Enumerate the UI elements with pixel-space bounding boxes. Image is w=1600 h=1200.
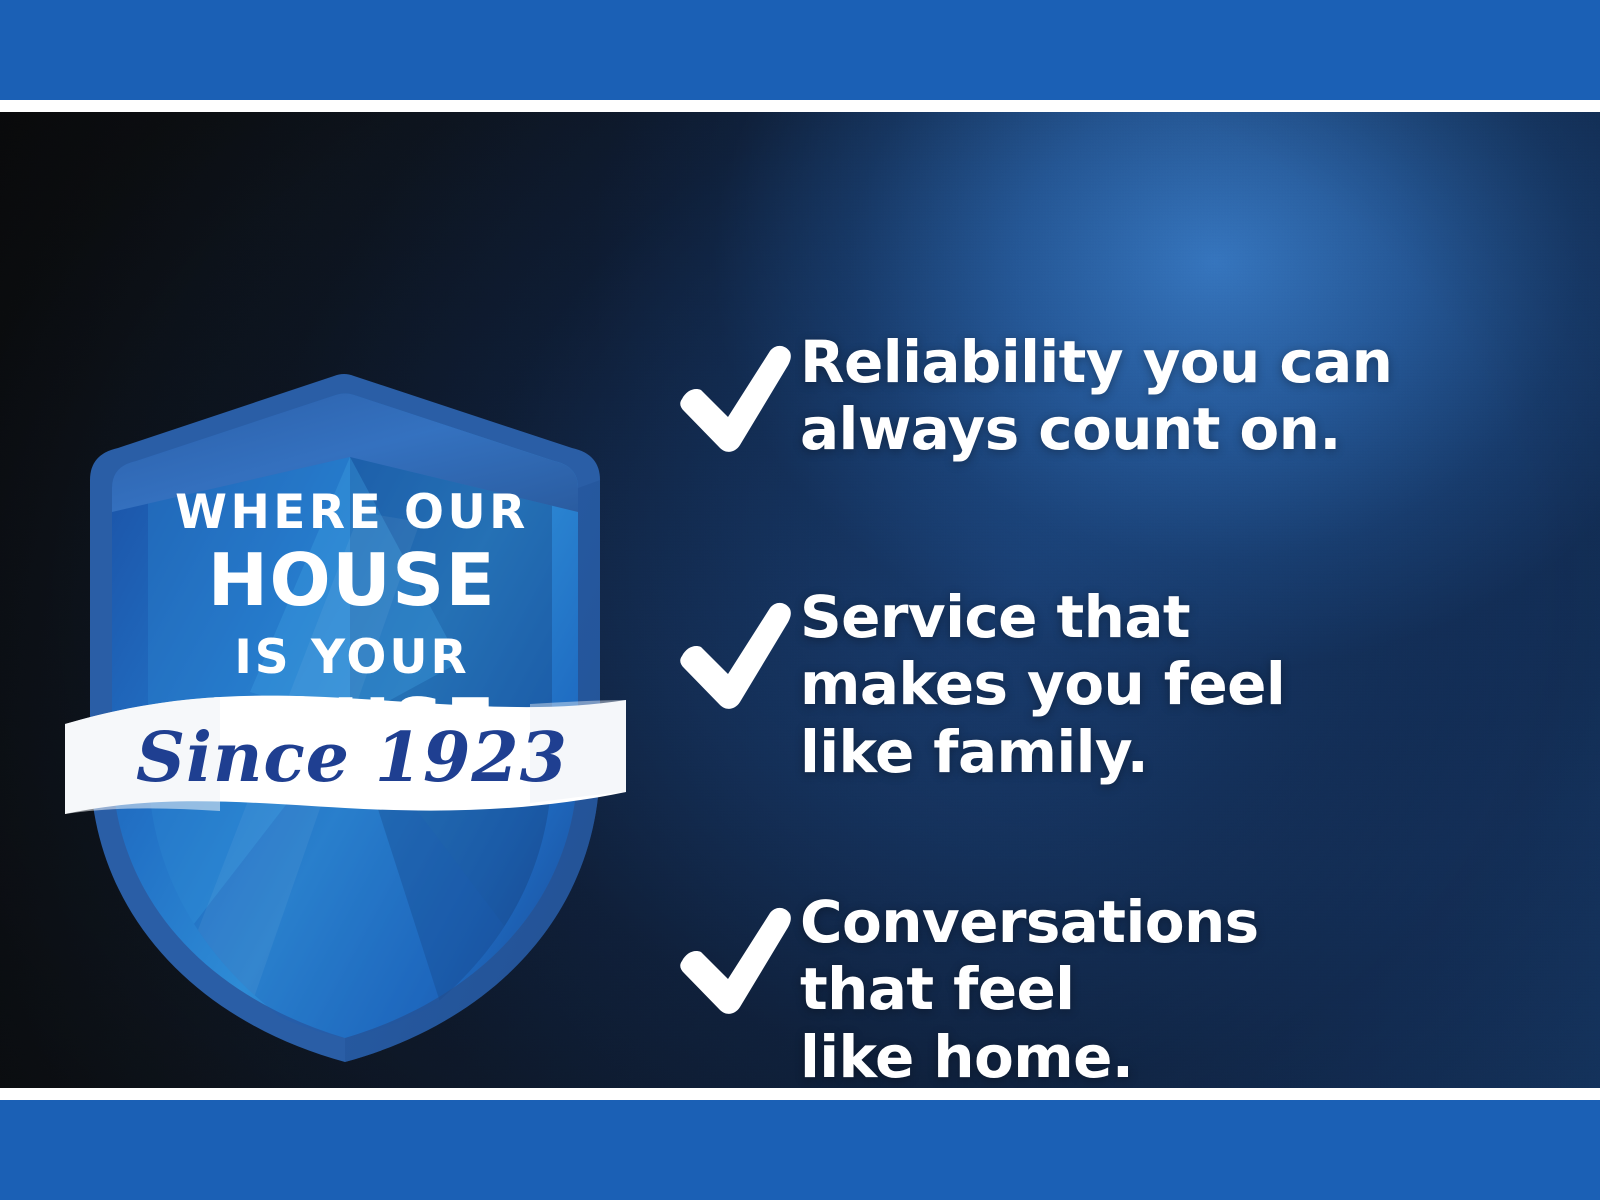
check-icon	[670, 907, 800, 1017]
bottom-white-divider	[0, 1088, 1600, 1100]
top-white-divider	[0, 100, 1600, 112]
list-item-text: Service that makes you feel like family.	[800, 584, 1285, 786]
list-item: Service that makes you feel like family.	[670, 584, 1285, 786]
logo-line-2: HOUSE	[208, 538, 496, 622]
since-banner: Since 1923	[65, 696, 626, 814]
graphic-canvas: WHERE OUR HOUSE IS YOUR HOUSE Since 1923	[0, 0, 1600, 1200]
logo-line-1: WHERE OUR	[175, 485, 529, 540]
top-blue-border	[0, 0, 1600, 100]
bottom-blue-border	[0, 1100, 1600, 1200]
banner-text: Since 1923	[136, 718, 568, 798]
benefit-list: Reliability you can always count on. Ser…	[660, 224, 1560, 1088]
logo-line-3: IS YOUR	[234, 630, 469, 685]
list-item-text: Conversations that feel like home.	[800, 889, 1259, 1088]
list-item: Reliability you can always count on.	[670, 329, 1392, 464]
shield-logo: WHERE OUR HOUSE IS YOUR HOUSE Since 1923	[60, 362, 630, 1062]
check-icon	[670, 345, 800, 455]
list-item-text: Reliability you can always count on.	[800, 329, 1392, 464]
check-icon	[670, 602, 800, 712]
content-panel: WHERE OUR HOUSE IS YOUR HOUSE Since 1923	[0, 112, 1600, 1088]
list-item: Conversations that feel like home.	[670, 889, 1259, 1088]
